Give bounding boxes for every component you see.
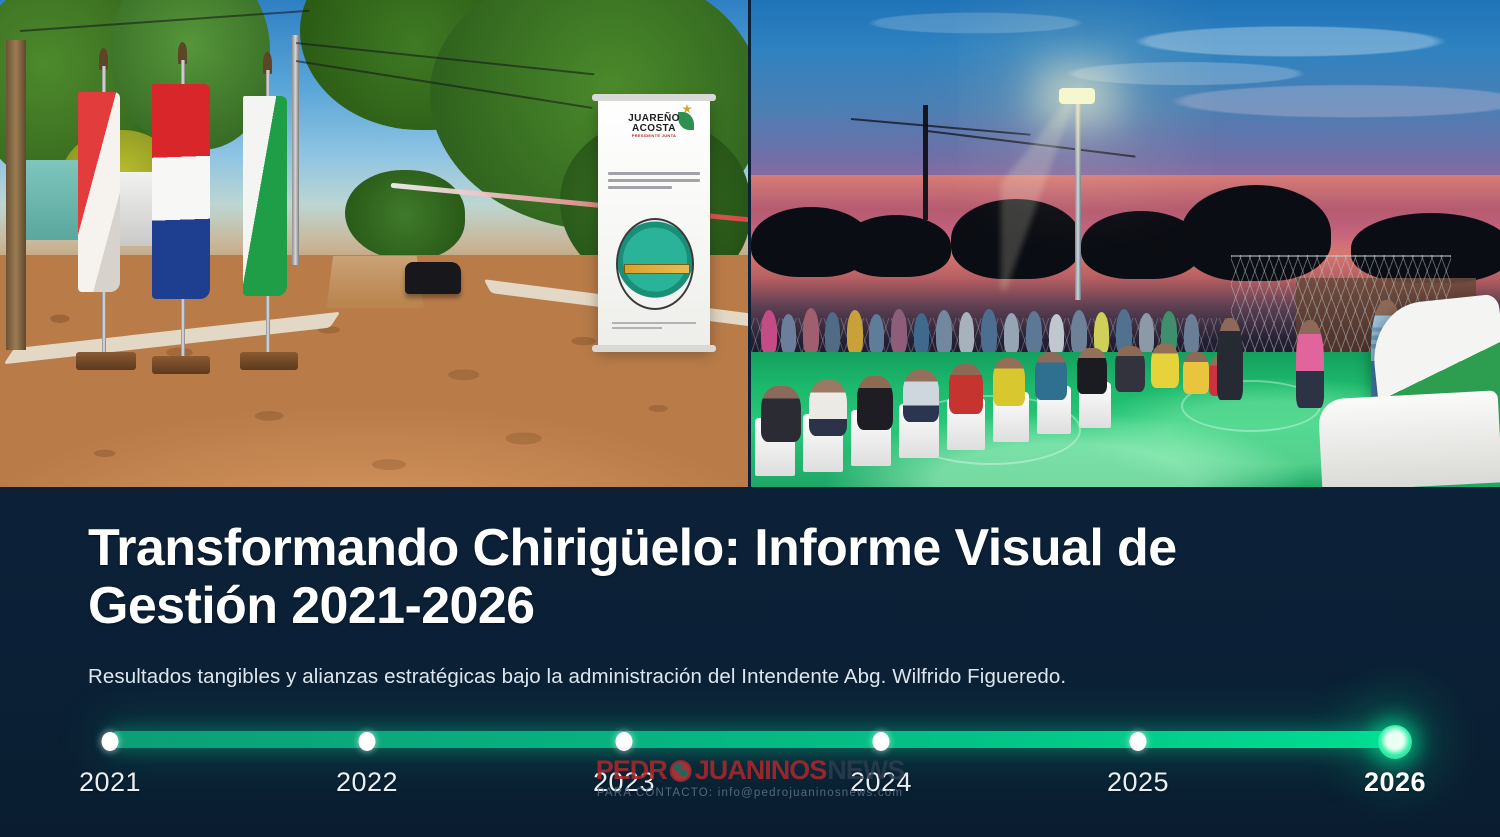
timeline-node-2022[interactable] (359, 732, 376, 751)
timeline-node-2021[interactable] (102, 732, 119, 751)
report-cover-card: JUAREÑO ACOSTA PRESIDENTE JUNTA (0, 0, 1500, 837)
banner-logo: JUAREÑO ACOSTA PRESIDENTE JUNTA (598, 114, 710, 138)
seated-person (1035, 352, 1067, 400)
timeline-node-2024[interactable] (873, 732, 890, 751)
seated-person (1151, 344, 1179, 388)
flag-base (240, 352, 298, 370)
person-silhouette (1071, 310, 1087, 354)
parked-car (405, 262, 461, 294)
flag-base (152, 356, 210, 374)
utility-pole (923, 105, 928, 220)
banner-footer-text (612, 322, 696, 332)
person-silhouette (1139, 313, 1154, 354)
covered-plaque (1318, 390, 1500, 487)
timeline: 202120222023202420252026 (0, 719, 1500, 829)
flag-cloth-ciudad (78, 92, 120, 292)
banner-top-bar (592, 94, 716, 101)
person-silhouette (869, 314, 884, 354)
photo-evening-ceremony (748, 0, 1500, 487)
tree-silhouette (841, 215, 951, 277)
power-pole (292, 35, 299, 265)
seated-person (949, 364, 983, 414)
seated-person (993, 358, 1025, 406)
event-banner: JUAREÑO ACOSTA PRESIDENTE JUNTA (598, 98, 710, 348)
person-silhouette (847, 310, 863, 354)
timeline-node-2023[interactable] (616, 732, 633, 751)
municipal-seal (616, 218, 694, 310)
person-silhouette (761, 310, 777, 354)
person-silhouette (891, 309, 907, 354)
standing-attendee (1217, 318, 1243, 400)
person-silhouette (803, 308, 819, 354)
seated-person (1115, 346, 1145, 392)
photo-strip: JUAREÑO ACOSTA PRESIDENTE JUNTA (0, 0, 1500, 487)
seated-person (1077, 348, 1107, 394)
seal-band (624, 264, 690, 274)
timeline-node-2026[interactable] (1378, 725, 1412, 759)
person-silhouette (1026, 311, 1042, 354)
person-silhouette (1049, 314, 1064, 354)
timeline-label-2021: 2021 (79, 767, 141, 798)
banner-bottom-bar (592, 345, 716, 352)
timeline-label-2026: 2026 (1364, 767, 1426, 798)
seated-person (857, 376, 893, 430)
seated-person (761, 386, 801, 442)
timeline-label-2023: 2023 (593, 767, 655, 798)
person-silhouette (936, 310, 952, 354)
person-silhouette (825, 312, 840, 354)
person-silhouette (1004, 313, 1019, 354)
person-silhouette (981, 309, 997, 354)
flag-cloth-paraguay (152, 84, 210, 299)
timeline-label-2024: 2024 (850, 767, 912, 798)
wooden-post (6, 40, 26, 350)
flag-cloth-municipal (243, 96, 287, 296)
page-subtitle: Resultados tangibles y alianzas estratég… (88, 665, 1066, 689)
info-panel: Transformando Chirigüelo: Informe Visual… (0, 487, 1500, 837)
person-silhouette (959, 312, 974, 354)
photo-road-inauguration: JUAREÑO ACOSTA PRESIDENTE JUNTA (0, 0, 748, 487)
timeline-label-2025: 2025 (1107, 767, 1169, 798)
timeline-node-2025[interactable] (1130, 732, 1147, 751)
person-silhouette (1184, 314, 1199, 354)
page-title: Transformando Chirigüelo: Informe Visual… (88, 520, 1288, 635)
banner-text-block (608, 172, 700, 193)
timeline-track (110, 731, 1395, 748)
seated-person (809, 380, 847, 436)
seated-person (903, 370, 939, 422)
person-silhouette (781, 314, 796, 354)
timeline-label-2022: 2022 (336, 767, 398, 798)
mc-with-microphone (1296, 320, 1324, 408)
floodlight-icon (1059, 88, 1095, 104)
child-dancer (1183, 352, 1209, 394)
banner-logo-line3: PRESIDENTE JUNTA (598, 134, 710, 138)
flag-base (76, 352, 136, 370)
person-silhouette (914, 313, 929, 354)
light-mast (1075, 100, 1081, 300)
